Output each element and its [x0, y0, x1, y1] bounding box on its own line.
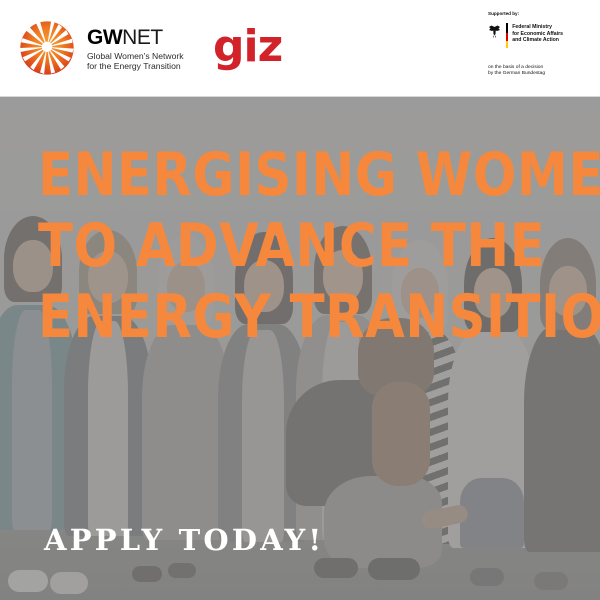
gwnet-wordmark-bold: GW — [87, 26, 122, 49]
sunburst-icon — [18, 19, 76, 77]
german-flag-bar — [506, 23, 508, 48]
gwnet-tagline-line1: Global Women's Network — [87, 51, 184, 62]
german-eagle-emblem-icon — [488, 24, 501, 38]
giz-logo[interactable]: giz — [213, 25, 282, 69]
headline: ENERGISING WOMEN TO ADVANCE THE ENERGY T… — [38, 140, 600, 353]
gwnet-wordmark: GWNET — [87, 27, 184, 48]
ministry-name-line2: for Economic Affairs — [512, 31, 563, 38]
apply-today-cta[interactable]: APPLY TODAY! — [44, 523, 324, 557]
ministry-basis-note: on the basis of a decision by the German… — [488, 65, 588, 78]
headline-line-2: TO ADVANCE THE — [38, 211, 600, 282]
ministry-name-line3: and Climate Action — [512, 37, 563, 44]
headline-line-1: ENERGISING WOMEN — [38, 140, 600, 211]
gwnet-wordmark-light: NET — [122, 26, 163, 49]
hero-section: ENERGISING WOMEN TO ADVANCE THE ENERGY T… — [0, 97, 600, 600]
headline-line-3: ENERGY TRANSITION — [38, 282, 600, 353]
ministry-name: Federal Ministry for Economic Affairs an… — [512, 23, 563, 44]
ministry-support-block: Supported by: — [488, 11, 588, 78]
ministry-basis-line2: by the German Bundestag — [488, 71, 588, 77]
supported-by-label: Supported by: — [488, 11, 588, 17]
header-bar: GWNET Global Women's Network for the Ene… — [0, 0, 600, 97]
ministry-name-line1: Federal Ministry — [512, 24, 563, 31]
ministry-identity-row: Federal Ministry for Economic Affairs an… — [488, 23, 588, 48]
gwnet-logo[interactable]: GWNET Global Women's Network for the Ene… — [18, 19, 184, 77]
gwnet-tagline-line2: for the Energy Transition — [87, 61, 184, 72]
poster: GWNET Global Women's Network for the Ene… — [0, 0, 600, 600]
gwnet-text-lockup: GWNET Global Women's Network for the Ene… — [87, 25, 184, 72]
